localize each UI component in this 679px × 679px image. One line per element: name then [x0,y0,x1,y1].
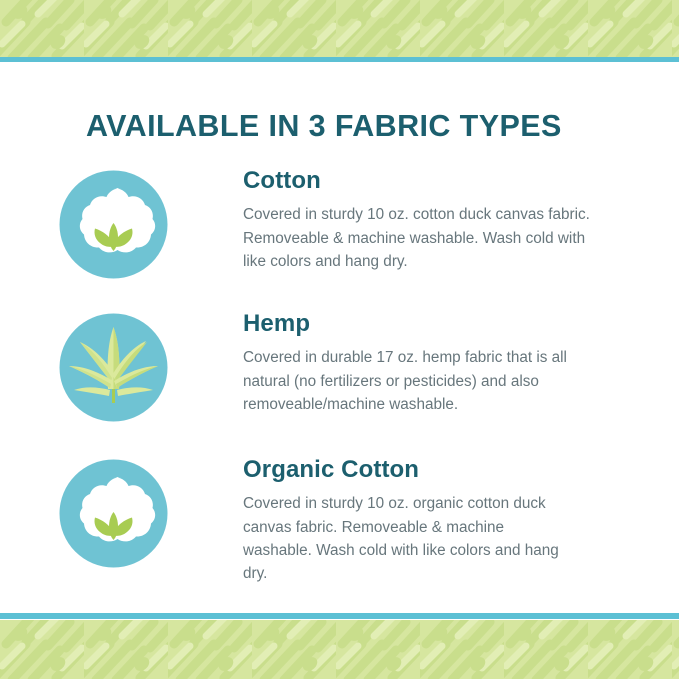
feature-description: Covered in sturdy 10 oz. cotton duck can… [243,203,601,273]
feature-text-organic-cotton: Organic Cotton Covered in sturdy 10 oz. … [243,457,623,585]
feature-text-hemp: Hemp Covered in durable 17 oz. hemp fabr… [243,311,623,416]
page-title: AVAILABLE IN 3 FABRIC TYPES [86,109,606,144]
feature-heading: Organic Cotton [243,457,623,483]
fabric-types-infographic: AVAILABLE IN 3 FABRIC TYPES Cotton Cover… [0,0,679,679]
hemp-leaf-icon [57,311,170,424]
bottom-teal-rule [0,613,679,619]
top-band-green-fill [0,0,679,57]
feature-description: Covered in sturdy 10 oz. organic cotton … [243,492,573,585]
feature-description: Covered in durable 17 oz. hemp fabric th… [243,346,601,416]
organic-cotton-boll-icon [57,457,170,570]
bottom-band-weave-pattern [0,620,679,679]
top-decorative-band [0,0,679,62]
bottom-decorative-band [0,613,679,679]
top-band-weave-pattern [0,0,679,57]
feature-text-cotton: Cotton Covered in sturdy 10 oz. cotton d… [243,168,623,273]
top-teal-rule [0,57,679,62]
cotton-boll-icon [57,168,170,281]
bottom-band-green-fill [0,620,679,679]
feature-heading: Cotton [243,168,623,194]
feature-heading: Hemp [243,311,623,337]
